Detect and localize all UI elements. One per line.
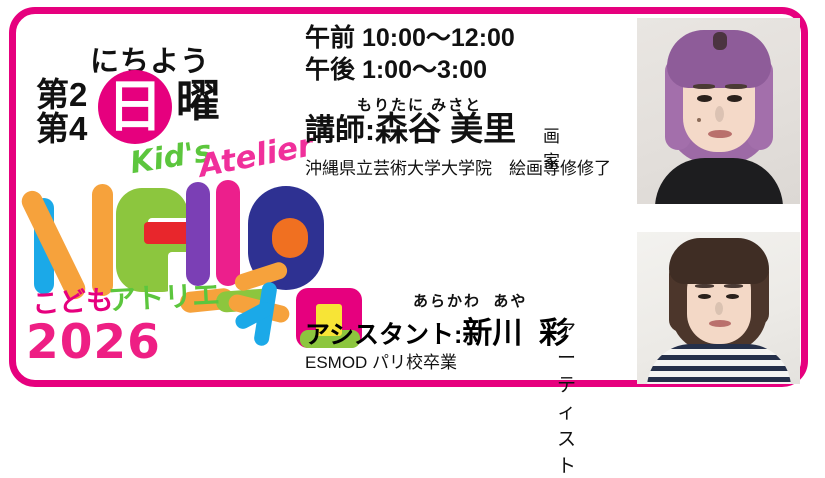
assistant-eye-right	[726, 294, 739, 299]
assistant-photo	[637, 232, 800, 384]
assistant-label: アシスタント:	[305, 321, 462, 349]
morning-time: 午前 10:00〜12:00	[305, 22, 635, 54]
teacher-surname: 森谷	[375, 110, 441, 147]
assistant-role: アーティスト	[557, 316, 576, 478]
teacher-eye-right	[727, 95, 742, 102]
assistant-mouth	[709, 320, 731, 327]
logo-letter-o-inner	[272, 218, 308, 258]
assistant-name-gap	[522, 317, 539, 350]
afternoon-time: 午後 1:00〜3:00	[305, 54, 635, 86]
nello-logo: Kid's Atelier こども アトリエ 2026	[20, 140, 310, 375]
logo-sub-atorie: アトリエ	[107, 273, 221, 319]
assistant-hair-top	[669, 238, 769, 284]
teacher-mouth	[708, 130, 732, 138]
day-kanji: 日	[98, 70, 172, 144]
assistant-name-line: アシスタント:新川 彩	[305, 308, 569, 352]
teacher-eye-left	[697, 95, 712, 102]
teacher-eyebrow-right	[725, 84, 747, 89]
assistant-eyebrow-right	[724, 284, 743, 288]
assistant-eyebrow-left	[695, 284, 714, 288]
assistant-surname: 新川	[462, 317, 522, 350]
logo-letter-e-bar	[144, 222, 192, 244]
day-suffix: 曜	[176, 80, 220, 124]
assistant-clothing-striped	[647, 344, 791, 384]
teacher-given-name: 美里	[450, 110, 516, 147]
teacher-mole	[697, 118, 701, 122]
logo-letter-l-second	[216, 180, 240, 286]
assistant-nose	[715, 302, 723, 315]
teacher-name-line: 講師:森谷 美里	[305, 112, 516, 147]
logo-letter-l-first	[186, 182, 210, 286]
teacher-hair-part	[713, 32, 727, 50]
teacher-nose	[715, 106, 724, 122]
info-column: 午前 10:00〜12:00 午後 1:00〜3:00 もりたに みさと 講師:…	[305, 22, 635, 86]
teacher-photo	[637, 18, 800, 204]
teacher-credential: 沖縄県立芸術大学大学院 絵画専修修了	[305, 154, 611, 179]
assistant-credential: ESMOD パリ校卒業	[305, 348, 457, 373]
teacher-label: 講師:	[305, 114, 375, 147]
logo-year: 2026	[26, 315, 161, 370]
schedule-day-block: にちよう 第2 第4 日 曜	[18, 18, 280, 130]
flyer-card: にちよう 第2 第4 日 曜 Kid's Atelier こども アトリエ 20…	[0, 0, 825, 400]
teacher-given	[441, 110, 450, 147]
assistant-eye-left	[698, 294, 711, 299]
teacher-eyebrow-left	[693, 84, 715, 89]
